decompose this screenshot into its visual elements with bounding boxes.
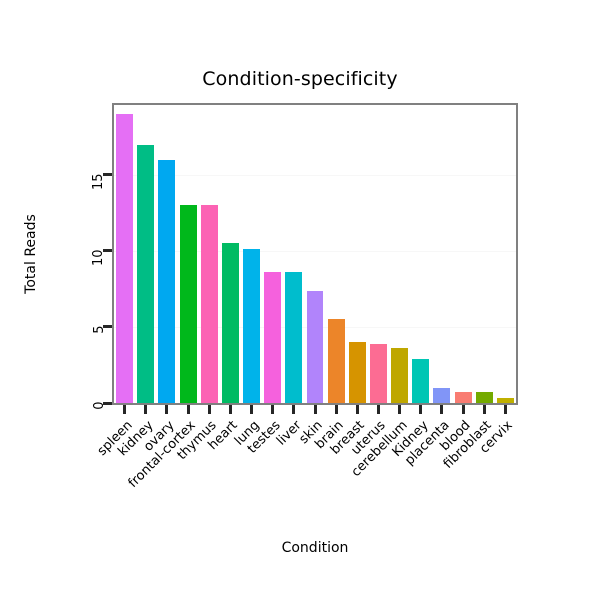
bar-ovary: [158, 160, 175, 403]
bar-lung: [243, 249, 260, 403]
x-tick-mark: [123, 405, 126, 414]
bar-breast: [349, 342, 366, 403]
x-tick-mark: [483, 405, 486, 414]
x-tick-mark: [398, 405, 401, 414]
y-tick-label: 10: [92, 249, 107, 266]
x-tick-mark: [187, 405, 190, 414]
y-tick-label: 0: [92, 402, 107, 410]
y-axis: 051015: [0, 103, 112, 405]
x-tick-mark: [165, 405, 168, 414]
x-tick-mark: [229, 405, 232, 414]
y-tick-label: 5: [92, 325, 107, 333]
bar-placenta: [433, 388, 450, 403]
x-tick-mark: [208, 405, 211, 414]
x-tick-mark: [250, 405, 253, 414]
bar-liver: [285, 272, 302, 403]
x-tick-mark: [271, 405, 274, 414]
x-tick-mark: [356, 405, 359, 414]
bar-cervix: [497, 398, 514, 403]
y-tick-label: 15: [92, 173, 107, 190]
chart-figure: Condition-specificity Total Reads 051015…: [0, 0, 600, 600]
bar-brain: [328, 319, 345, 403]
bar-thymus: [201, 205, 218, 403]
bar-kidney: [412, 359, 429, 403]
bars-layer: [114, 105, 516, 403]
chart-title: Condition-specificity: [0, 68, 600, 90]
x-axis: spleenkidneyovaryfrontal-cortexthymushea…: [112, 405, 518, 525]
bar-blood: [455, 392, 472, 403]
x-tick-mark: [377, 405, 380, 414]
bar-skin: [307, 291, 324, 404]
x-tick-mark: [144, 405, 147, 414]
bar-uterus: [370, 344, 387, 403]
plot-panel: [112, 103, 518, 405]
x-tick-mark: [314, 405, 317, 414]
x-tick-mark: [419, 405, 422, 414]
bar-kidney: [137, 145, 154, 403]
x-tick-mark: [504, 405, 507, 414]
bar-frontal-cortex: [180, 205, 197, 403]
x-tick-mark: [462, 405, 465, 414]
bar-cerebellum: [391, 348, 408, 403]
x-tick-mark: [292, 405, 295, 414]
x-tick-mark: [335, 405, 338, 414]
plot-inner: [114, 105, 516, 403]
x-axis-title: Condition: [112, 540, 518, 556]
bar-testes: [264, 272, 281, 403]
x-tick-mark: [440, 405, 443, 414]
bar-fibroblast: [476, 392, 493, 403]
bar-heart: [222, 243, 239, 403]
bar-spleen: [116, 114, 133, 403]
